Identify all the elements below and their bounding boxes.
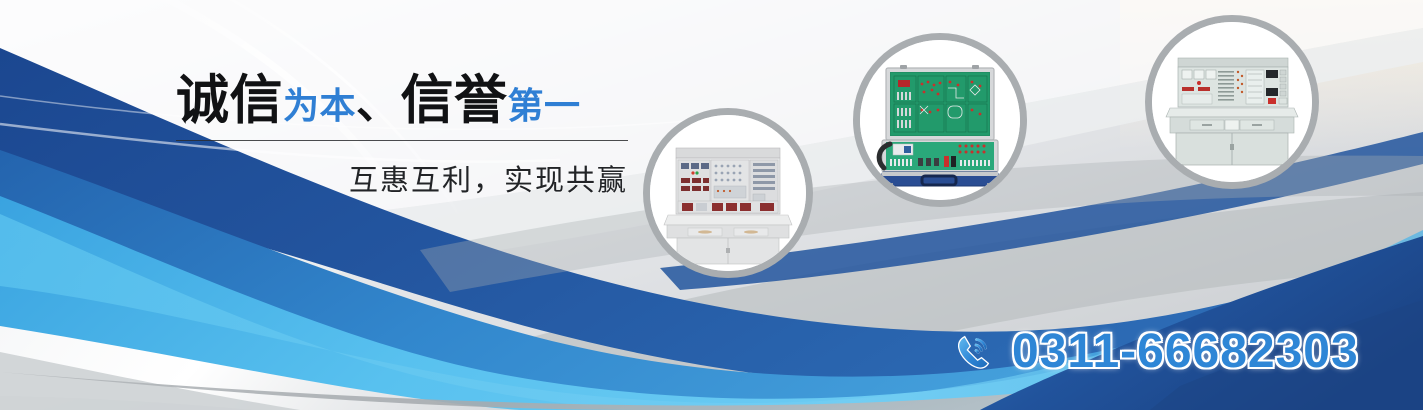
headline-part-4: 第一: [508, 85, 581, 126]
product-circle-1[interactable]: [650, 115, 806, 271]
product-circle-2[interactable]: [860, 40, 1020, 200]
phone-call-icon: [952, 329, 998, 375]
promo-banner: 诚信为本、信誉第一 互惠互利，实现共赢: [0, 0, 1423, 410]
headline-part-2: 为本: [283, 85, 356, 126]
circle-3-accent-arc: [1152, 22, 1312, 182]
headline-part-3: 信誉: [401, 71, 508, 130]
headline-part-1: 诚信: [176, 71, 283, 130]
contact-block[interactable]: 0311-66682303: [952, 324, 1359, 379]
headline-block: 诚信为本、信誉第一 互惠互利，实现共赢: [176, 74, 628, 199]
page-title: 诚信为本、信誉第一: [176, 74, 628, 127]
phone-number[interactable]: 0311-66682303: [1012, 324, 1359, 379]
headline-divider: [176, 140, 628, 141]
subtitle: 互惠互利，实现共赢: [176, 157, 628, 199]
circle-1-accent-arc: [650, 115, 806, 271]
circle-2-accent-arc: [860, 40, 1020, 200]
product-circle-3[interactable]: [1152, 22, 1312, 182]
headline-punctuation: 、: [356, 79, 401, 128]
